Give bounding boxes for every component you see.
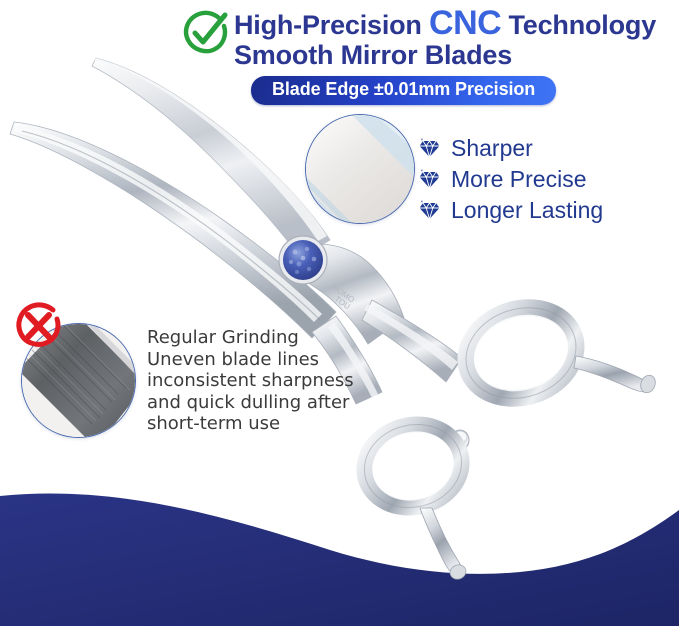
diamond-gem-icon [418,200,441,221]
benefit-item: More Precise [418,164,603,195]
headline-block: High-Precision CNC Technology Smooth Mir… [182,6,674,69]
headline-line-2: Smooth Mirror Blades [234,41,656,69]
precision-badge-label: Blade Edge ±0.01mm Precision [272,79,535,99]
grinding-note-line: inconsistent sharpness [147,370,362,392]
benefit-label: Sharper [451,135,533,162]
headline-line1-part2: Technology [501,10,656,40]
headline-line1-part1: High-Precision [234,10,429,40]
grinding-note-line: Regular Grinding [147,327,362,349]
diamond-gem-icon [418,169,441,190]
diamond-gem-icon [418,138,441,159]
benefit-item: Sharper [418,133,603,164]
benefit-label: More Precise [451,166,586,193]
headline-line2-text: Smooth Mirror Blades [234,40,512,70]
product-infographic: MOMO TOU [0,0,679,626]
upper-finger-rest [574,356,651,392]
precision-badge: Blade Edge ±0.01mm Precision [251,76,556,105]
grinding-note-line: short-term use [147,413,362,435]
benefits-list: Sharper More Precise Longer Lasting [418,133,603,226]
regular-grinding-note: Regular Grinding Uneven blade lines inco… [147,327,362,435]
benefit-item: Longer Lasting [418,195,603,226]
red-x-circle-icon [12,300,64,352]
headline-cnc-accent: CNC [429,4,501,42]
grinding-note-line: Uneven blade lines [147,349,362,371]
grinding-note-line: and quick dulling after [147,392,362,414]
green-check-circle-icon [181,9,229,57]
lower-finger-ring [356,414,471,517]
upper-finger-ring [454,294,588,412]
inset-smooth-blade-closeup [305,114,415,224]
headline-line-1: High-Precision CNC Technology [234,6,656,41]
benefit-label: Longer Lasting [451,197,603,224]
smooth-blade-texture [306,115,414,223]
